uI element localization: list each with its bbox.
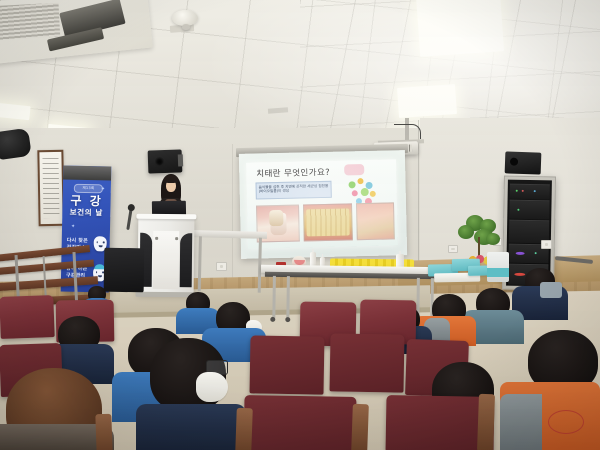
teal-supply-boxes [428, 253, 491, 284]
seat-armrest [235, 408, 253, 450]
sparkle-icon: ✦ [101, 186, 105, 192]
wall-seam [232, 144, 233, 284]
banner-subhead: 보건의 날 [62, 207, 110, 219]
dental-photo-full-arch [303, 203, 353, 241]
auditorium-seat[interactable] [0, 295, 55, 339]
rack-unit [510, 184, 550, 200]
notice-text-lines [42, 158, 59, 218]
demonstration-table [261, 265, 446, 276]
dispenser-band [487, 268, 509, 277]
lectern-top [136, 214, 196, 220]
presentation-slide: 치태란 무엇인가요? 음식물을 섭취 후 치면에 끈적한 세균성 침전물(바이오… [246, 159, 398, 248]
projector-cable [394, 124, 421, 139]
seat-armrest [95, 414, 112, 450]
wall-socket[interactable] [541, 240, 552, 249]
left-wall-speaker [148, 149, 183, 173]
speaker-cone [155, 157, 164, 166]
slide-photo-row [256, 203, 390, 241]
face-mask [196, 372, 228, 402]
attendee-body [136, 404, 246, 450]
presenter-fringe [164, 175, 178, 183]
seat-armrest [477, 394, 495, 450]
dental-photo-gum [356, 202, 395, 240]
av-cabinet [104, 248, 145, 293]
slide-title: 치태란 무엇인가요? [256, 166, 330, 180]
photo-scene: 치태란 무엇인가요? 음식물을 섭취 후 치면에 끈적한 세균성 침전물(바이오… [0, 0, 600, 450]
water-dispenser [487, 252, 509, 282]
vest-logo-icon [548, 410, 584, 434]
rack-unit [509, 200, 549, 220]
seat-armrest [351, 404, 369, 450]
slide-decoration-badge [344, 164, 364, 175]
speaker-bracket [178, 154, 183, 166]
vest-panel-gray [500, 394, 542, 450]
lectern-fastener [155, 237, 158, 240]
framed-wall-notice [37, 150, 64, 226]
attendee-collar [540, 282, 562, 298]
projection-screen: 치태란 무엇인가요? 음식물을 섭취 후 치면에 끈적한 세균성 침전물(바이오… [239, 150, 407, 259]
right-wall-speaker [505, 151, 542, 174]
lectern-side-panel [180, 233, 193, 287]
speaker-cone [510, 158, 518, 166]
lectern-fastener [175, 237, 178, 240]
auditorium-seat[interactable] [244, 395, 357, 450]
wall-socket[interactable] [216, 262, 227, 271]
banner-top-bar [63, 166, 111, 181]
auditorium-seat[interactable] [249, 335, 324, 394]
slide-caption: 음식물을 섭취 후 치면에 끈적한 세균성 침전물(바이오필름)이 생성 [255, 181, 331, 200]
auditorium-seat[interactable] [329, 333, 404, 392]
lectern [138, 217, 195, 294]
sparkle-icon: ✦ [71, 224, 75, 230]
